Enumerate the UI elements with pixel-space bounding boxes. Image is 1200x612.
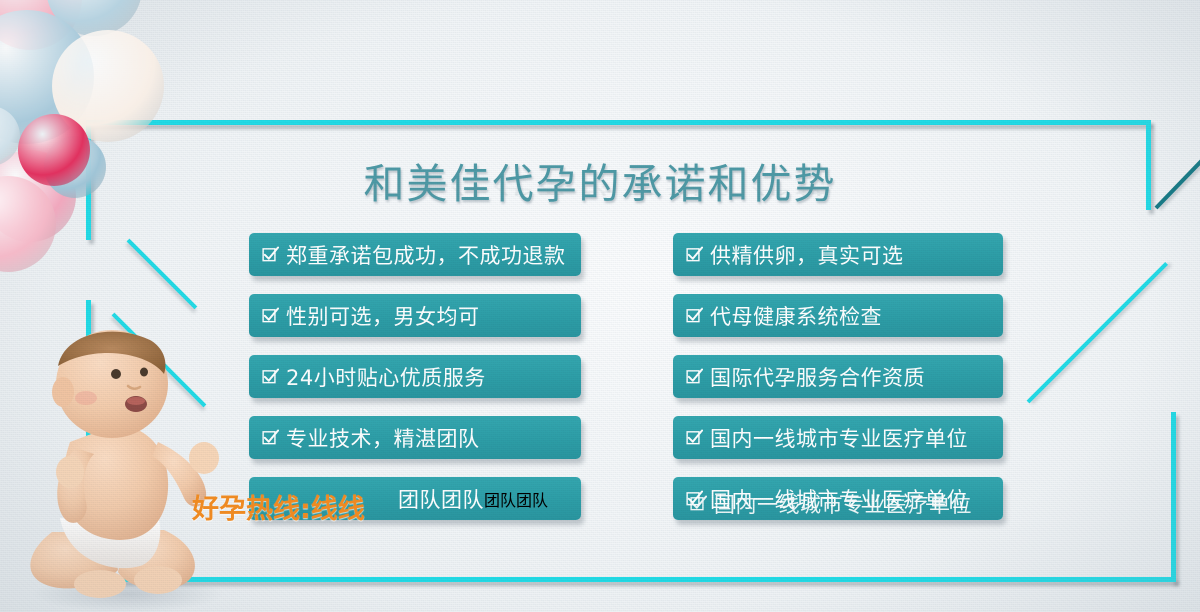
feature-pill-label-ghost-text: 国内一线城市专业医疗单位 [714, 489, 972, 519]
checkbox-checked-icon [262, 429, 279, 446]
frame-line-bottom [86, 577, 1176, 582]
checkbox-checked-icon [686, 307, 703, 324]
checkbox-checked-icon [262, 368, 279, 385]
feature-pill-label: 国际代孕服务合作资质 [710, 362, 925, 392]
feature-pill[interactable]: 代母健康系统检查 [673, 294, 1003, 337]
feature-pill[interactable]: 24小时贴心优质服务 [249, 355, 581, 398]
feature-pill-label: 团队团队 [398, 484, 484, 514]
feature-pill[interactable]: 国际代孕服务合作资质 [673, 355, 1003, 398]
feature-pill-label: 性别可选，男女均可 [286, 301, 480, 331]
feature-pill[interactable]: 供精供卵，真实可选 [673, 233, 1003, 276]
checkbox-checked-icon [686, 246, 703, 263]
checkbox-checked-icon [686, 429, 703, 446]
balloon [18, 114, 90, 186]
frame-diagonal-top-right-dark [1155, 120, 1200, 209]
frame-line-top [86, 120, 1150, 125]
feature-pill-label: 代母健康系统检查 [710, 301, 882, 331]
promo-banner: 和美佳代孕的承诺和优势 和美佳代孕的承诺和优势 郑重承诺包成功，不成功退款性别可… [0, 0, 1200, 612]
checkbox-checked-icon [262, 307, 279, 324]
feature-pill-label: 24小时贴心优质服务 [286, 362, 486, 392]
checkbox-checked-icon [262, 246, 279, 263]
feature-pill-label: 郑重承诺包成功，不成功退款 [286, 240, 566, 270]
balloon-cluster [0, 0, 230, 268]
checkbox-checked-icon [686, 368, 703, 385]
feature-pill-label: 国内一线城市专业医疗单位 [710, 423, 968, 453]
hotline-text: 好孕热线:线线 [192, 487, 365, 526]
feature-pill[interactable]: 国内一线城市专业医疗单位 [673, 416, 1003, 459]
frame-diagonal-right [1027, 262, 1168, 403]
feature-pill[interactable]: 国内一线城市专业医疗单位国内一线城市专业医疗单位 [673, 477, 1003, 520]
feature-pill[interactable]: 郑重承诺包成功，不成功退款 [249, 233, 581, 276]
feature-pill[interactable]: 专业技术，精湛团队 [249, 416, 581, 459]
checkbox-checked-icon [690, 495, 707, 512]
feature-pill-label-ghost: 国内一线城市专业医疗单位 [690, 489, 972, 519]
baby-photo [8, 322, 240, 612]
feature-pill-label: 专业技术，精湛团队 [286, 423, 480, 453]
feature-pill-label: 供精供卵，真实可选 [710, 240, 904, 270]
feature-pill[interactable]: 性别可选，男女均可 [249, 294, 581, 337]
feature-pill-label-ghost: 团队团队 [484, 487, 548, 511]
frame-line-right-lower [1171, 412, 1176, 582]
frame-line-right-upper [1146, 120, 1151, 210]
feature-list-right: 供精供卵，真实可选代母健康系统检查国际代孕服务合作资质国内一线城市专业医疗单位国… [673, 233, 1003, 538]
